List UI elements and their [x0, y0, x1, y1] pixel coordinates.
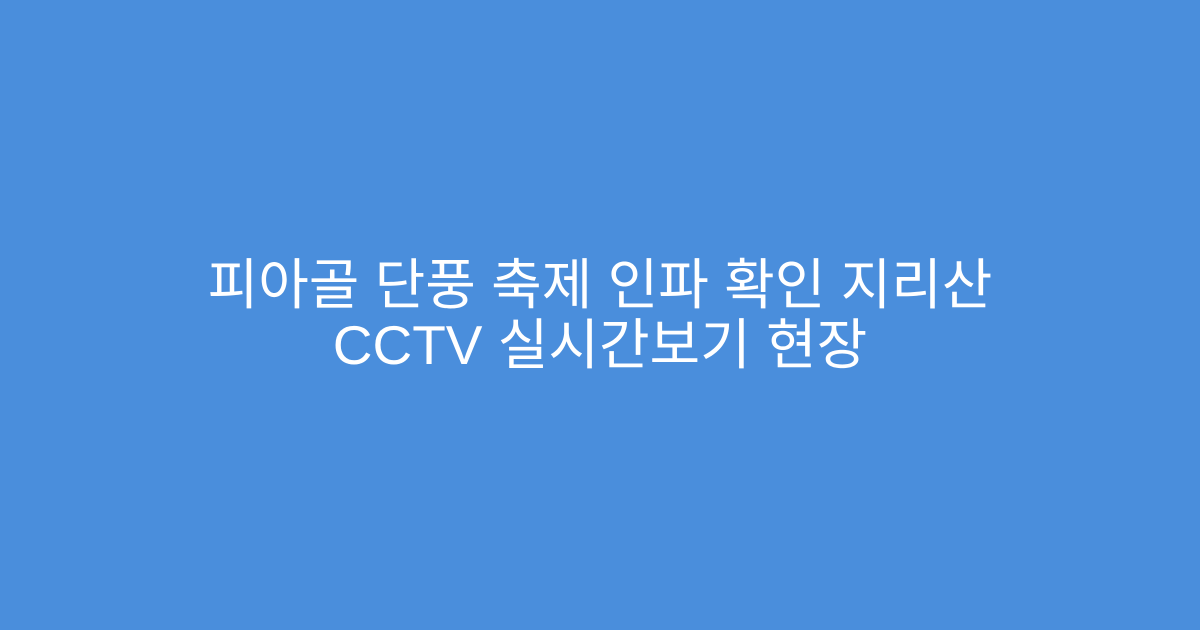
card-content-wrapper: 피아골 단풍 축제 인파 확인 지리산 CCTV 실시간보기 현장: [0, 255, 1200, 375]
open-graph-card: 피아골 단풍 축제 인파 확인 지리산 CCTV 실시간보기 현장: [0, 0, 1200, 630]
card-title: 피아골 단풍 축제 인파 확인 지리산 CCTV 실시간보기 현장: [150, 255, 1050, 375]
